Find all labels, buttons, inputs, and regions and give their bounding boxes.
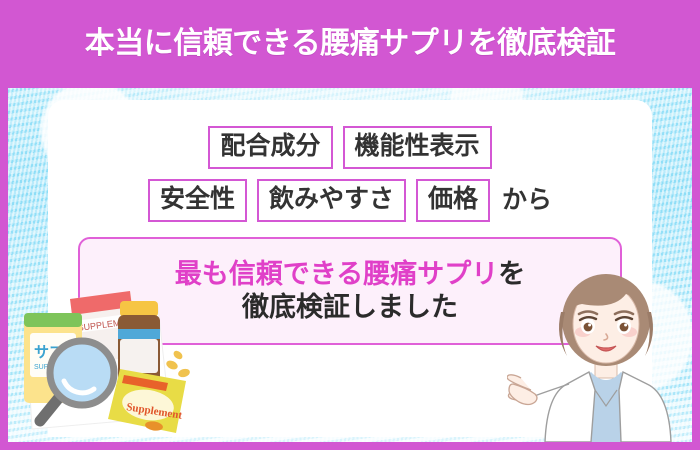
- woman-body: [507, 354, 671, 442]
- criteria-row-1: 配合成分 機能性表示: [48, 126, 652, 169]
- criteria-suffix: から: [500, 188, 552, 213]
- page-root: 本当に信頼できる腰痛サプリを徹底検証 配合成分 機能性表示 安全性 飲みやすさ …: [0, 0, 700, 450]
- page-title: 本当に信頼できる腰痛サプリを徹底検証: [85, 29, 615, 59]
- female-pharmacist-illustration: [507, 272, 692, 442]
- criteria-tag-safety: 安全性: [148, 179, 247, 222]
- conclusion-line-2: 徹底検証しました: [242, 293, 458, 322]
- conclusion-highlight-text: 最も信頼できる腰痛サプリ: [175, 259, 498, 289]
- criteria-tag-ease-of-use: 飲みやすさ: [257, 179, 406, 222]
- woman-head: [559, 274, 653, 366]
- open-hand-gesture: [507, 375, 537, 405]
- supplement-pills: [165, 349, 191, 378]
- criteria-tag-functional-claim: 機能性表示: [343, 126, 492, 169]
- page-header: 本当に信頼できる腰痛サプリを徹底検証: [0, 0, 700, 88]
- conclusion-line-1: 最も信頼できる腰痛サプリを: [175, 260, 525, 289]
- criteria-row-2: 安全性 飲みやすさ 価格 から: [48, 179, 652, 222]
- criteria-tag-price: 価格: [416, 179, 490, 222]
- criteria-tag-ingredients: 配合成分: [208, 126, 332, 169]
- supplement-packet-yellow: Supplement: [108, 369, 186, 433]
- content-frame: 配合成分 機能性表示 安全性 飲みやすさ 価格 から 最も信頼できる腰痛サプリを…: [0, 88, 700, 450]
- supplement-products-illustration: SUPPLEMENT サプリ SUPPLEMENT: [8, 277, 198, 442]
